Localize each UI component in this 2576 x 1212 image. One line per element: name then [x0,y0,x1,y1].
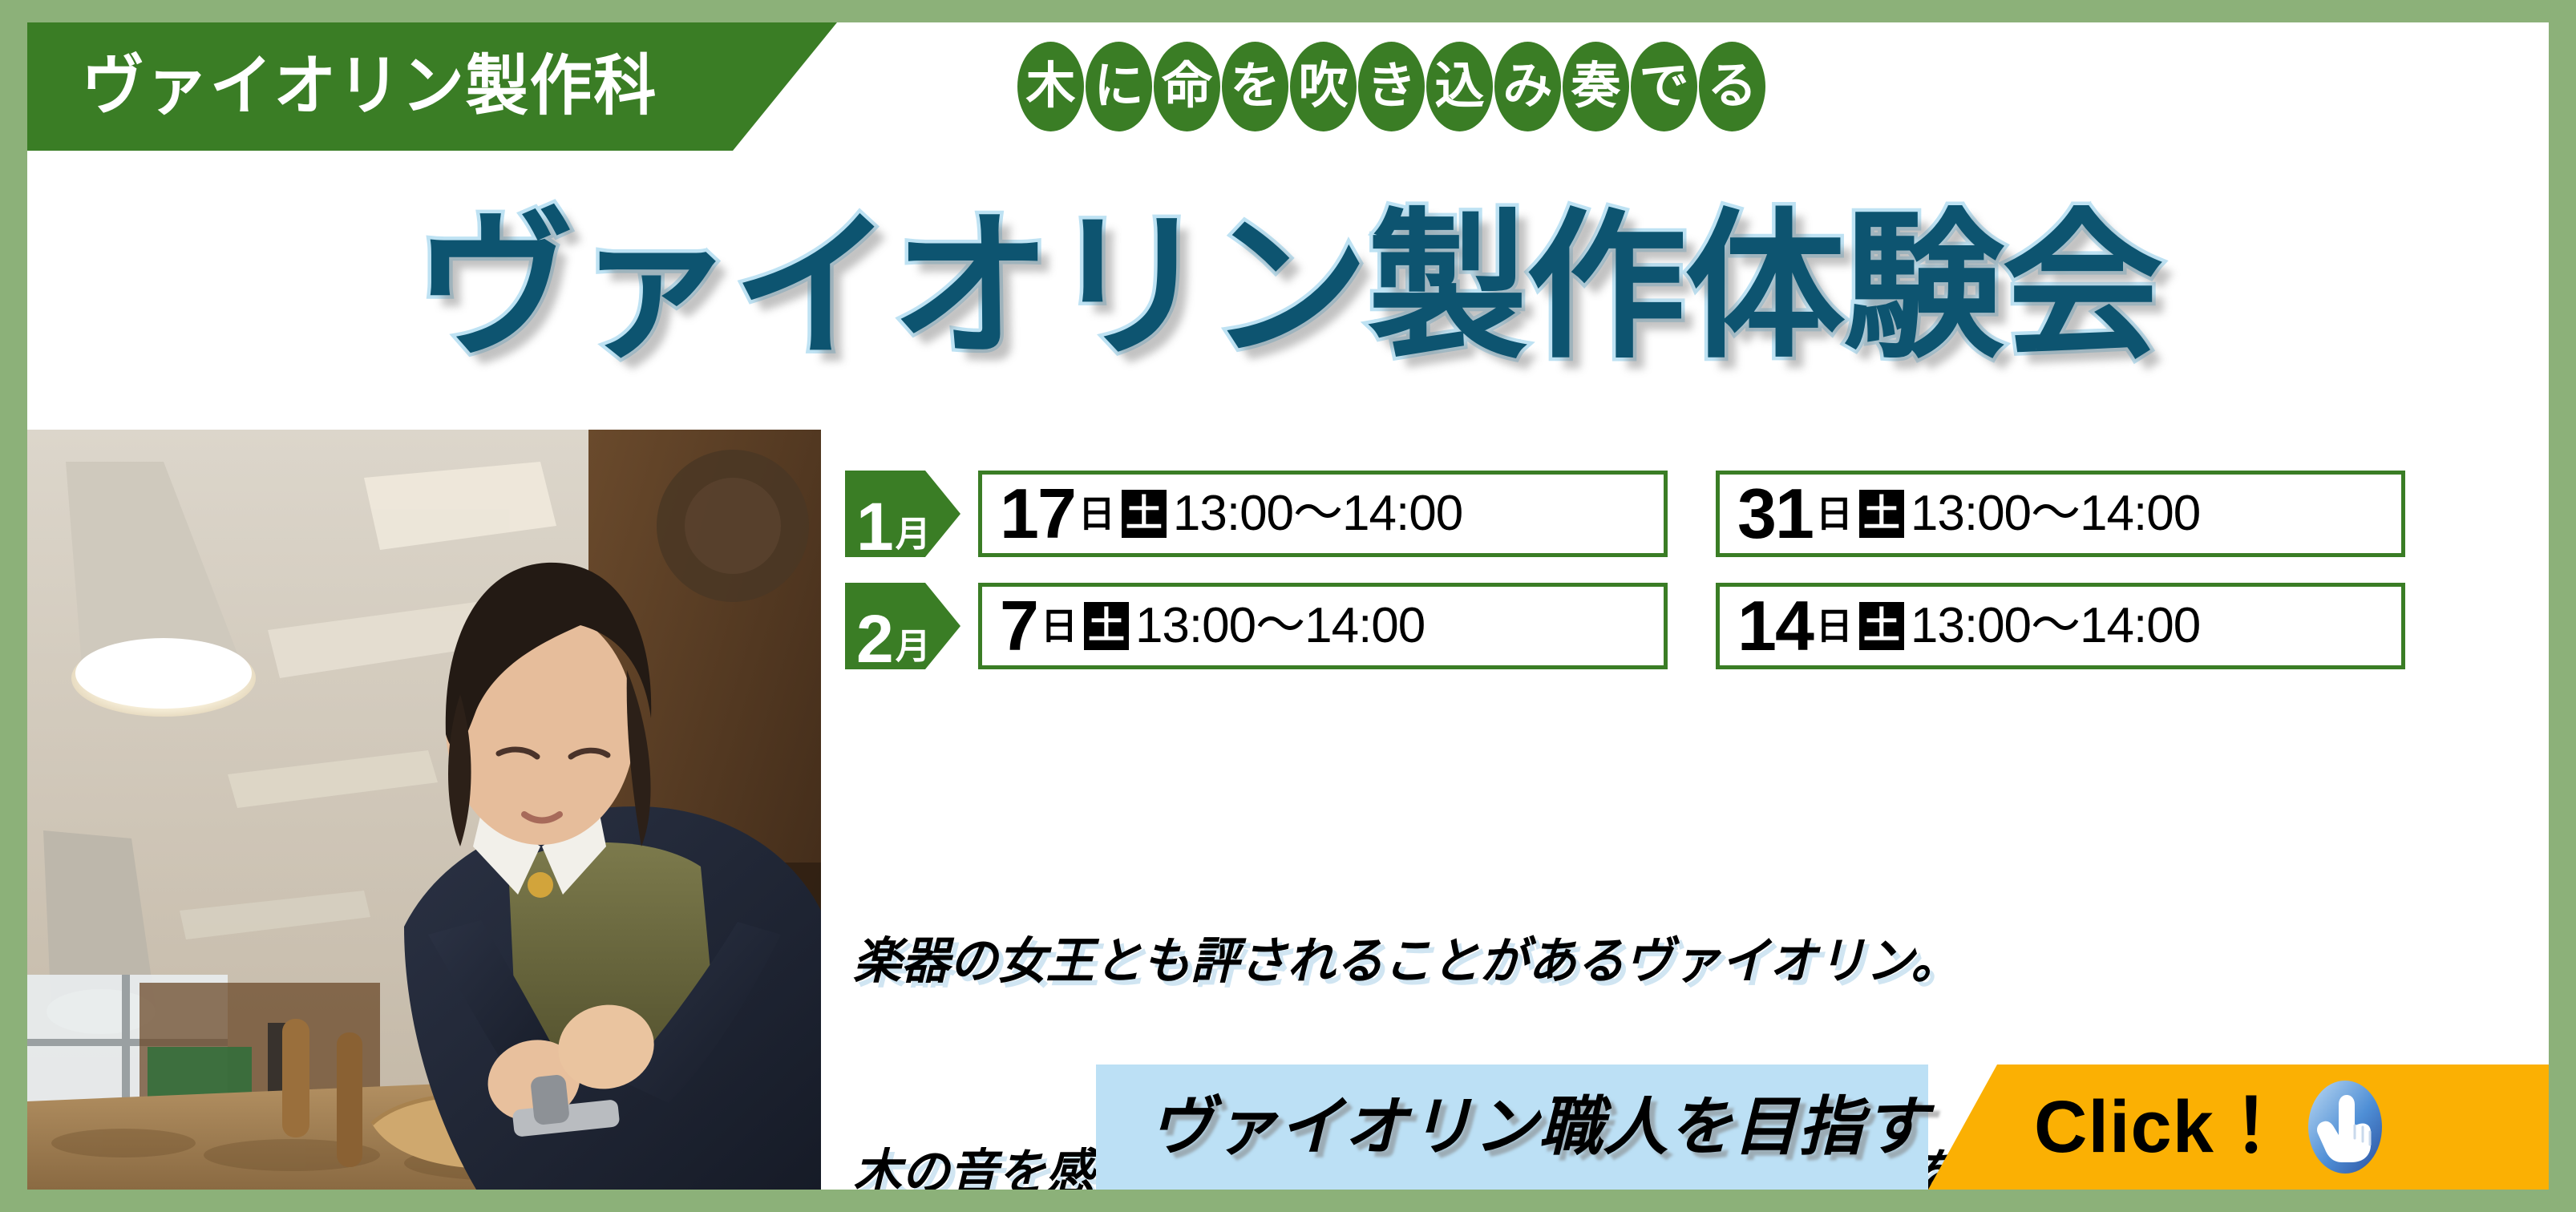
day-of-week-badge: 土 [1859,602,1904,650]
session-day-unit: 日 [1816,608,1853,644]
session-time: 13:00〜14:00 [1173,489,1462,539]
month-unit: 月 [896,629,931,665]
schedule-row: 2 月 7 日 土 13:00〜14:00 14 日 土 13:00〜14:00 [845,579,2545,673]
month-chip-february: 2 月 [845,583,960,669]
tagline-char: み [1494,42,1561,131]
tagline-char: 命 [1154,42,1220,131]
session-day-unit: 日 [1816,495,1853,532]
tagline-char: 木 [1017,42,1084,131]
headline-title: ヴァイオリン製作体験会 [27,196,2549,380]
tagline-char: で [1631,42,1697,131]
tagline-char: に [1086,42,1152,131]
department-tab-label: ヴァイオリン製作科 [82,54,657,119]
session-box[interactable]: 31 日 土 13:00〜14:00 [1716,471,2405,557]
click-button[interactable]: Click！ [1928,1065,2549,1190]
click-button-label: Click！ [2034,1090,2289,1164]
session-day: 7 [1000,591,1037,661]
month-chip-january: 1 月 [845,471,960,557]
day-of-week-badge: 土 [1122,490,1167,538]
schedule: 1 月 17 日 土 13:00〜14:00 31 日 土 13:00〜14:0… [845,467,2545,691]
tagline-char: 吹 [1290,42,1357,131]
department-tab: ヴァイオリン製作科 [27,22,837,151]
session-time: 13:00〜14:00 [1911,601,2200,651]
session-box[interactable]: 14 日 土 13:00〜14:00 [1716,583,2405,669]
tagline-char: 奏 [1563,42,1629,131]
workshop-photo-illustration [27,430,821,1190]
workshop-photo [27,430,821,1190]
tagline-char: 込 [1426,42,1493,131]
tagline-char: き [1358,42,1425,131]
session-time: 13:00〜14:00 [1135,601,1425,651]
violin-workshop-banner: ヴァイオリン製作科 木 に 命 を 吹 き 込 み 奏 で る ヴァイオリン製作… [0,0,2576,1212]
cta-text-panel: ヴァイオリン職人を目指す [1096,1065,1928,1190]
day-of-week-badge: 土 [1084,602,1129,650]
description-line: 楽器の女王とも評されることがあるヴァイオリン。 [853,927,2153,997]
session-time: 13:00〜14:00 [1911,489,2200,539]
session-day-unit: 日 [1041,608,1078,644]
session-day: 31 [1737,479,1813,549]
day-of-week-badge: 土 [1859,490,1904,538]
cta-text-label: ヴァイオリン職人を目指す [1149,1095,1928,1159]
schedule-row: 1 月 17 日 土 13:00〜14:00 31 日 土 13:00〜14:0… [845,467,2545,561]
session-day: 14 [1737,591,1813,661]
pointing-hand-icon [2307,1079,2384,1175]
session-day: 17 [1000,479,1075,549]
tagline-char: る [1699,42,1765,131]
month-number: 2 [856,610,894,669]
month-unit: 月 [896,517,931,552]
cta-bar[interactable]: ヴァイオリン職人を目指す Click！ [1096,1065,2549,1190]
tagline: 木 に 命 を 吹 き 込 み 奏 で る [1017,42,1765,131]
session-box[interactable]: 7 日 土 13:00〜14:00 [978,583,1668,669]
month-number: 1 [856,498,894,557]
tagline-char: を [1222,42,1288,131]
banner-inner: ヴァイオリン製作科 木 に 命 を 吹 き 込 み 奏 で る ヴァイオリン製作… [27,22,2549,1190]
session-day-unit: 日 [1078,495,1115,532]
session-box[interactable]: 17 日 土 13:00〜14:00 [978,471,1668,557]
